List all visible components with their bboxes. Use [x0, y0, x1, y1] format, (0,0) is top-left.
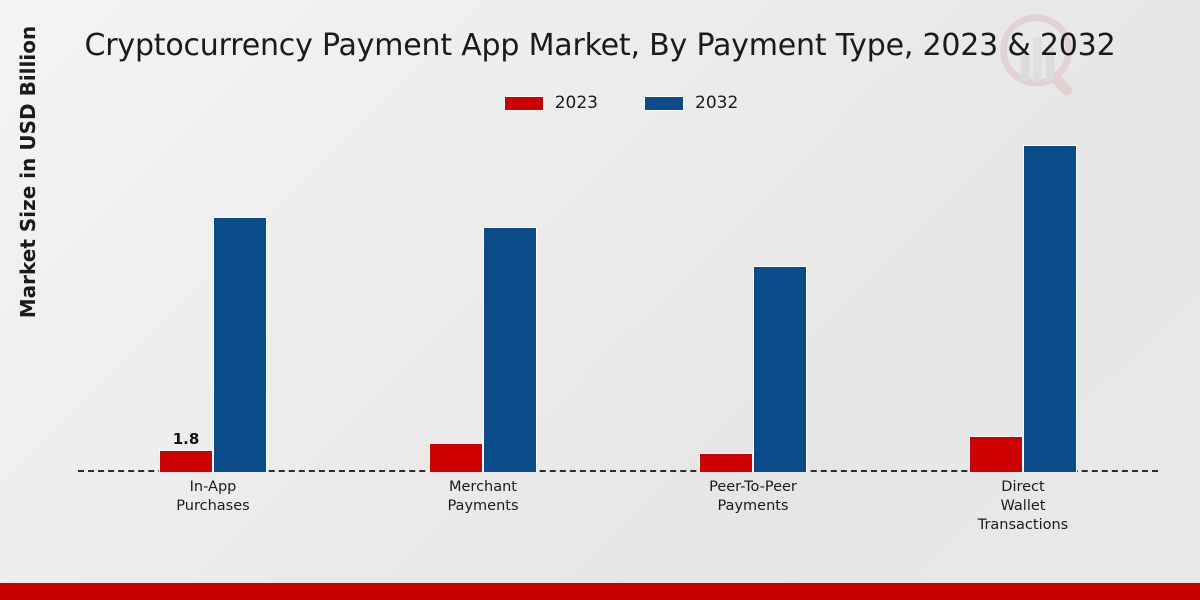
bar-2023[interactable] — [699, 453, 753, 472]
bar-2023[interactable]: 1.8 — [159, 450, 213, 472]
chart-title: Cryptocurrency Payment App Market, By Pa… — [0, 28, 1200, 63]
x-tick-label: Peer-To-PeerPayments — [618, 478, 888, 516]
bar-2023[interactable] — [969, 436, 1023, 472]
bar-2032[interactable] — [753, 266, 807, 472]
legend-swatch-2023 — [504, 96, 544, 111]
bar-value-label: 1.8 — [173, 430, 200, 448]
bar-group — [888, 130, 1158, 472]
x-tick-label: MerchantPayments — [348, 478, 618, 516]
bar-2032[interactable] — [1023, 145, 1077, 472]
x-tick-line: In-App — [78, 478, 348, 497]
bar-group — [618, 130, 888, 472]
bar-group: 1.8 — [78, 130, 348, 472]
bar-2023[interactable] — [429, 443, 483, 472]
legend-label-2032: 2032 — [695, 93, 738, 113]
x-tick-label: DirectWalletTransactions — [888, 478, 1158, 535]
x-tick-line: Wallet — [888, 497, 1158, 516]
x-tick-line: Direct — [888, 478, 1158, 497]
x-tick-line: Payments — [618, 497, 888, 516]
footer-accent-bar — [0, 583, 1200, 600]
x-tick-line: Transactions — [888, 516, 1158, 535]
y-axis-title: Market Size in USD Billion — [16, 0, 40, 362]
x-axis-tick-labels: In-AppPurchasesMerchantPaymentsPeer-To-P… — [78, 478, 1158, 558]
bar-group — [348, 130, 618, 472]
legend-label-2023: 2023 — [555, 93, 598, 113]
x-tick-line: Payments — [348, 497, 618, 516]
chart-figure: Cryptocurrency Payment App Market, By Pa… — [0, 0, 1200, 600]
x-tick-line: Purchases — [78, 497, 348, 516]
legend-item-2032[interactable]: 2032 — [644, 93, 738, 113]
bar-2032[interactable] — [483, 227, 537, 472]
plot-area: 1.8 — [78, 130, 1158, 472]
x-tick-label: In-AppPurchases — [78, 478, 348, 516]
legend-swatch-2032 — [644, 96, 684, 111]
x-tick-line: Peer-To-Peer — [618, 478, 888, 497]
chart-legend: 2023 2032 — [0, 93, 1200, 113]
x-tick-line: Merchant — [348, 478, 618, 497]
bar-2032[interactable] — [213, 217, 267, 472]
legend-item-2023[interactable]: 2023 — [504, 93, 598, 113]
